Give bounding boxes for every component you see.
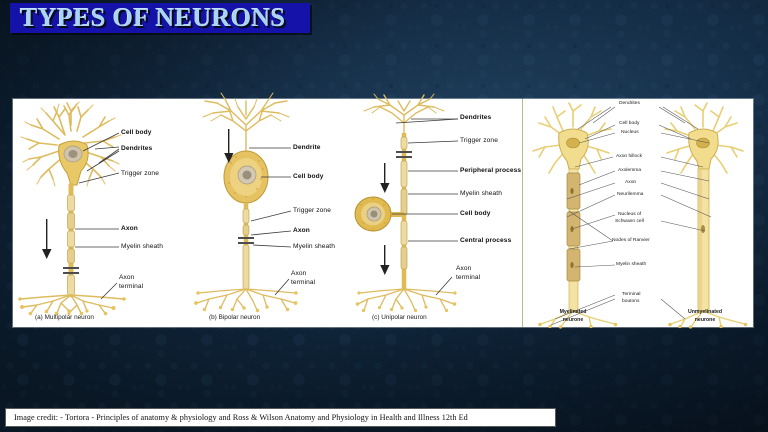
rlabel-myelin-sheath: Myelin sheath [616, 262, 646, 268]
rlabel-axon: Axon [625, 180, 636, 186]
image-credit-text: Image credit: - Tortora - Principles of … [6, 413, 468, 422]
figure-bipolar-neuron: Dendrite Cell body Trigger zone Axon Mye… [191, 99, 356, 327]
rlabel-boutons: boutons [622, 299, 639, 305]
multipolar-neuron-art [13, 99, 191, 327]
rlabel-axolemma: Axolemma [618, 168, 641, 174]
caption-unmyelinated-line2: neurone [673, 317, 737, 324]
page-title: TYPES OF NEURONS [10, 5, 285, 31]
label-axon-terminal-line2: terminal [456, 274, 480, 282]
label-axon-terminal-line1: Axon [456, 265, 471, 273]
rlabel-axon-hillock: Axon hillock [616, 154, 642, 160]
figure-caption-multipolar: (a) Multipolar neuron [35, 314, 94, 321]
rlabel-nucleus: Nucleus [621, 130, 639, 136]
label-trigger-zone: Trigger zone [460, 137, 498, 145]
caption-myelinated-line2: neurone [545, 317, 601, 324]
image-credit-bar: Image credit: - Tortora - Principles of … [5, 408, 556, 427]
caption-unmyelinated-line1: Unmyelinated [673, 309, 737, 316]
label-peripheral-process: Peripheral process [460, 167, 521, 175]
label-dendrites: Dendrites [460, 114, 491, 122]
label-trigger-zone: Trigger zone [293, 207, 331, 215]
rlabel-cell-body: Cell body [619, 121, 639, 127]
label-central-process: Central process [460, 237, 511, 245]
label-trigger-zone: Trigger zone [121, 170, 159, 178]
label-cell-body: Cell body [460, 210, 491, 218]
label-axon-terminal-line2: terminal [119, 283, 143, 291]
label-cell-body: Cell body [121, 129, 152, 137]
rlabel-neurilemma: Neurilemma [617, 192, 643, 198]
slide-canvas: TYPES OF NEURONS [0, 0, 768, 432]
rlabel-terminal: Terminal [622, 292, 640, 298]
slide-title-bar: TYPES OF NEURONS [10, 3, 310, 33]
label-axon-terminal-line1: Axon [119, 274, 134, 282]
rlabel-dendrites: Dendrites [619, 101, 640, 107]
figure-myelinated-unmyelinated: Dendrites Cell body Nucleus Axon hillock… [523, 99, 753, 327]
label-cell-body: Cell body [293, 173, 324, 181]
figure-caption-unipolar: (c) Unipolar neuron [372, 314, 427, 321]
label-myelin-sheath: Myelin sheath [121, 243, 163, 251]
rlabel-nucleus-of: Nucleus of [618, 212, 641, 218]
unipolar-neuron-art [356, 99, 522, 327]
label-axon: Axon [121, 225, 138, 233]
label-dendrites: Dendrites [121, 145, 152, 153]
bipolar-neuron-art [191, 99, 356, 327]
label-dendrite: Dendrite [293, 144, 321, 152]
figure-unipolar-neuron: Dendrites Trigger zone Peripheral proces… [356, 99, 522, 327]
label-axon-terminal-line2: terminal [291, 279, 315, 287]
left-figure-group: Cell body Dendrites Trigger zone Axon My… [13, 99, 522, 327]
rlabel-nodes-of-ranvier: Nodes of Ranvier [612, 238, 650, 244]
figure-caption-bipolar: (b) Bipolar neuron [209, 314, 260, 321]
caption-myelinated-line1: Myelinated [545, 309, 601, 316]
label-myelin-sheath: Myelin sheath [293, 243, 335, 251]
label-axon-terminal-line1: Axon [291, 270, 306, 278]
label-myelin-sheath: Myelin sheath [460, 190, 502, 198]
rlabel-schwann-cell: Schwann cell [615, 219, 644, 225]
figure-multipolar-neuron: Cell body Dendrites Trigger zone Axon My… [13, 99, 191, 327]
label-axon: Axon [293, 227, 310, 235]
figure-panel: Cell body Dendrites Trigger zone Axon My… [13, 99, 753, 327]
